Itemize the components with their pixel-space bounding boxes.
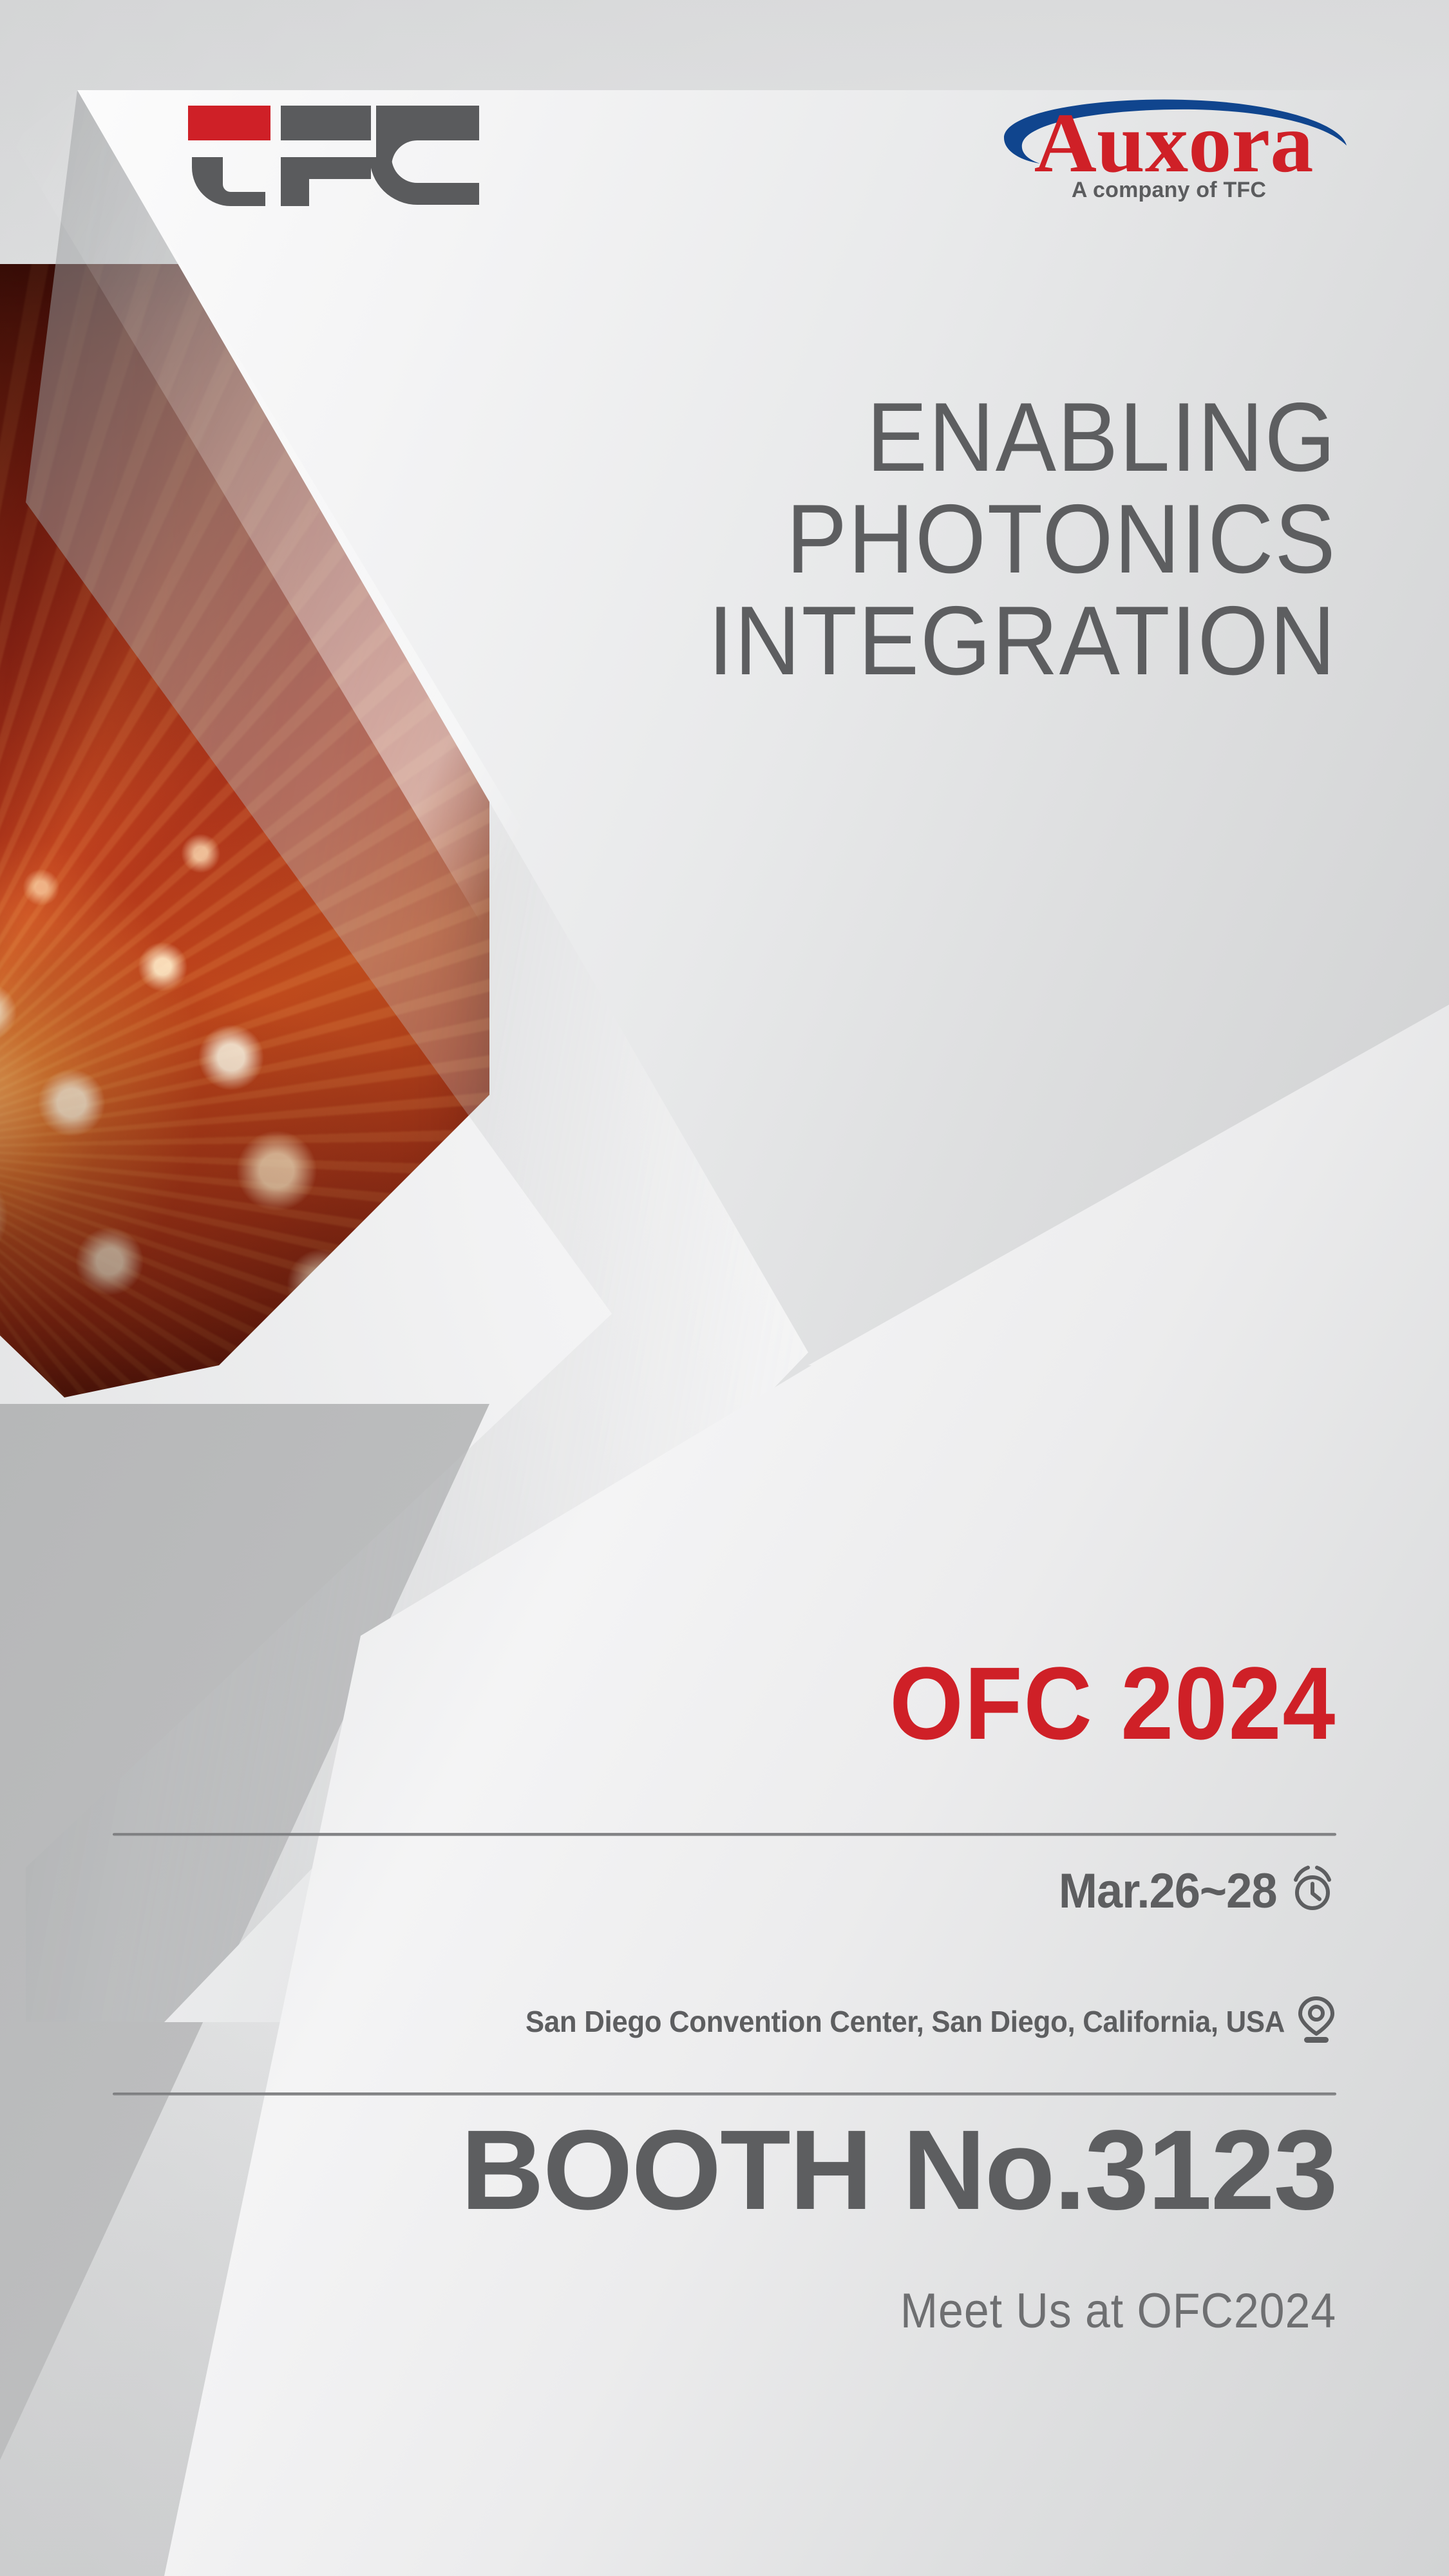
location-pin-icon [1296, 1995, 1336, 2047]
headline-line-3: INTEGRATION [708, 590, 1336, 692]
headline-line-2: PHOTONICS [708, 488, 1336, 590]
event-date: Mar.26~28 [1059, 1863, 1277, 1919]
alarm-clock-icon [1289, 1866, 1336, 1917]
event-venue-row: San Diego Convention Center, San Diego, … [486, 1995, 1336, 2047]
booth-number: BOOTH No.3123 [460, 2114, 1336, 2227]
auxora-text: Auxora [1034, 97, 1314, 182]
page-title: ENABLING PHOTONICS INTEGRATION [708, 386, 1336, 692]
auxora-logo: Auxora A company of TFC [989, 97, 1349, 219]
poster-canvas: Auxora A company of TFC ENABLING PHOTONI… [0, 0, 1449, 2576]
divider-top [113, 1833, 1336, 1836]
divider-bottom [113, 2092, 1336, 2096]
event-name: OFC 2024 [889, 1652, 1336, 1755]
event-date-row: Mar.26~28 [1047, 1863, 1336, 1919]
headline-line-1: ENABLING [708, 386, 1336, 488]
cta-text: Meet Us at OFC2024 [900, 2283, 1336, 2339]
tfc-logo [185, 103, 482, 206]
event-venue: San Diego Convention Center, San Diego, … [526, 2004, 1285, 2039]
auxora-wordmark: Auxora [989, 97, 1349, 182]
